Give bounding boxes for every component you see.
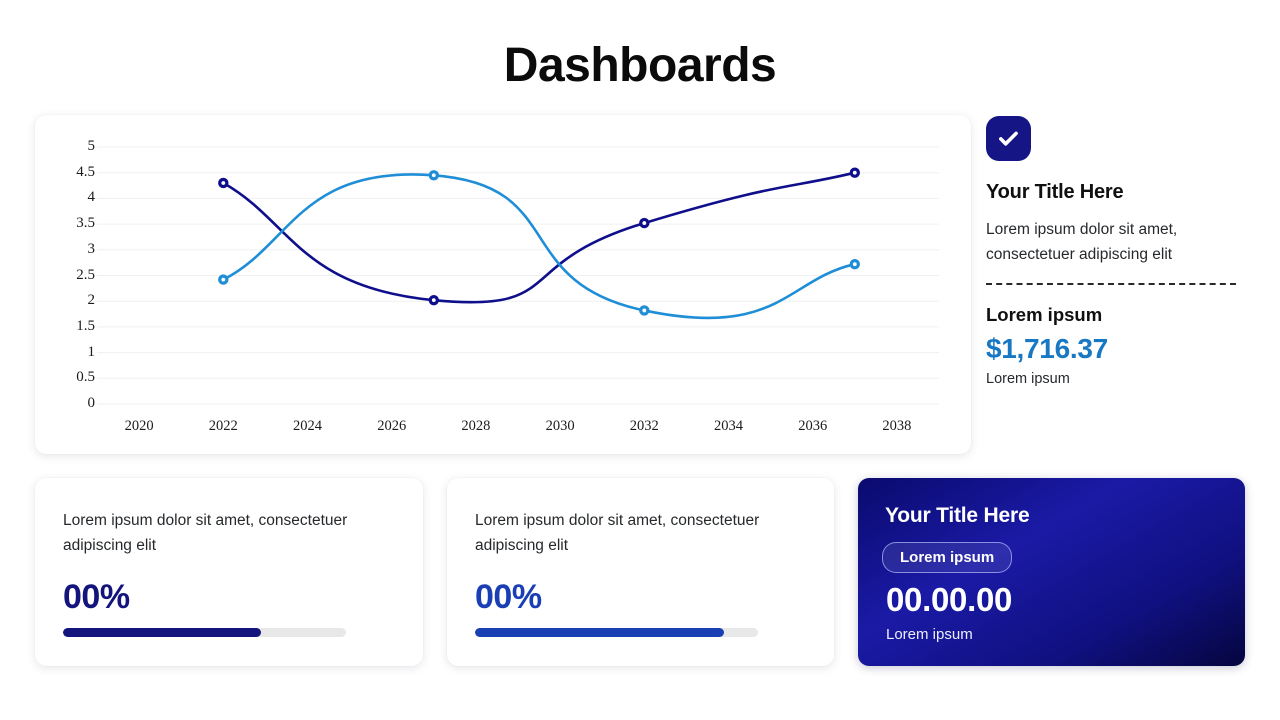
highlight-card-badge[interactable]: Lorem ipsum bbox=[882, 542, 1012, 573]
x-tick-label: 2028 bbox=[441, 418, 511, 435]
x-tick-label: 2026 bbox=[357, 418, 427, 435]
stat-card-1-text: Lorem ipsum dolor sit amet, consectetuer… bbox=[63, 508, 383, 558]
highlight-card-value: 00.00.00 bbox=[886, 581, 1012, 619]
check-circle-icon bbox=[986, 116, 1031, 161]
stat-card-2-percent: 00% bbox=[475, 578, 542, 617]
x-tick-label: 2032 bbox=[609, 418, 679, 435]
stat-card-1-progress-track[interactable] bbox=[63, 628, 346, 637]
stat-card-2: Lorem ipsum dolor sit amet, consectetuer… bbox=[447, 478, 834, 666]
x-tick-label: 2020 bbox=[104, 418, 174, 435]
stat-card-2-progress-track[interactable] bbox=[475, 628, 758, 637]
info-panel-sub-label: Lorem ipsum bbox=[986, 304, 1242, 326]
x-tick-label: 2038 bbox=[862, 418, 932, 435]
info-panel-body: Lorem ipsum dolor sit amet, consectetuer… bbox=[986, 217, 1236, 267]
slide-root: Dashboards 00.511.522.533.544.55 2020202… bbox=[0, 0, 1280, 720]
x-tick-label: 2030 bbox=[525, 418, 595, 435]
page-title: Dashboards bbox=[0, 38, 1280, 93]
info-panel-title: Your Title Here bbox=[986, 181, 1242, 204]
highlight-card: Your Title Here Lorem ipsum 00.00.00 Lor… bbox=[858, 478, 1245, 666]
stat-card-2-progress-fill bbox=[475, 628, 724, 637]
divider bbox=[986, 283, 1236, 285]
x-tick-label: 2022 bbox=[188, 418, 258, 435]
highlight-card-title: Your Title Here bbox=[885, 504, 1029, 528]
x-axis-ticks: 2020202220242026202820302032203420362038 bbox=[35, 418, 971, 442]
stat-card-1-percent: 00% bbox=[63, 578, 130, 617]
x-tick-label: 2024 bbox=[273, 418, 343, 435]
stat-card-1-progress-fill bbox=[63, 628, 261, 637]
chart-card: 00.511.522.533.544.55 202020222024202620… bbox=[35, 115, 971, 454]
stat-card-2-text: Lorem ipsum dolor sit amet, consectetuer… bbox=[475, 508, 795, 558]
line-chart[interactable]: 00.511.522.533.544.55 202020222024202620… bbox=[35, 115, 971, 454]
stat-card-1: Lorem ipsum dolor sit amet, consectetuer… bbox=[35, 478, 423, 666]
info-panel-amount: $1,716.37 bbox=[986, 333, 1242, 365]
highlight-card-caption: Lorem ipsum bbox=[886, 626, 973, 643]
info-panel-caption: Lorem ipsum bbox=[986, 371, 1242, 387]
info-panel: Your Title Here Lorem ipsum dolor sit am… bbox=[986, 116, 1242, 436]
x-tick-label: 2036 bbox=[778, 418, 848, 435]
x-tick-label: 2034 bbox=[694, 418, 764, 435]
chart-plot-area bbox=[35, 115, 971, 454]
